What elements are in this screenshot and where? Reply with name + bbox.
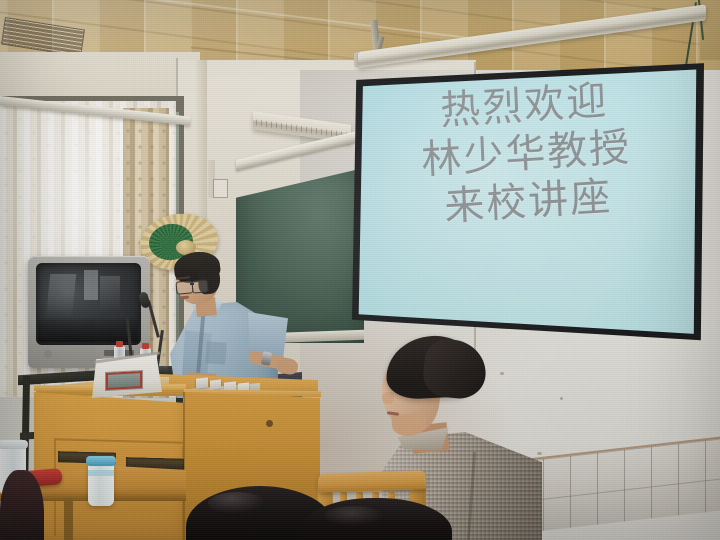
wall-speck <box>560 397 563 400</box>
wall-speck <box>537 452 542 455</box>
audience-hair-highlight <box>324 506 384 526</box>
cup-lid[interactable] <box>86 456 116 466</box>
bottle-cap <box>142 343 149 349</box>
podium-switch[interactable] <box>196 377 208 388</box>
tv-screen-reflection <box>84 270 98 300</box>
plastic-cup[interactable] <box>88 462 114 506</box>
tv-screen-reflection-audience <box>38 318 138 342</box>
glasses-icon <box>191 279 208 293</box>
seated-guest-nose <box>382 392 394 404</box>
audience-hair-highlight <box>208 492 266 514</box>
podium-switch[interactable] <box>210 379 221 389</box>
wall-speck <box>500 372 504 375</box>
slide-line-1: 热烈欢迎 <box>439 79 609 134</box>
audience-head <box>0 470 44 540</box>
slide-line-3: 来校讲座 <box>443 175 613 230</box>
tv-screen-reflection <box>46 274 77 318</box>
light-switch-plate[interactable] <box>214 180 227 197</box>
tv-power-button[interactable] <box>44 350 52 358</box>
bottle-cap <box>116 341 123 347</box>
cup-band <box>88 470 114 476</box>
speaker-mouth <box>180 296 189 300</box>
glasses-bridge <box>190 283 194 285</box>
chair-top-rail <box>318 470 427 493</box>
speaker-shirt-pocket <box>205 341 226 364</box>
console-display <box>106 371 142 390</box>
podium-lock-knob[interactable] <box>266 420 273 427</box>
student-desk-leg <box>64 498 73 540</box>
slide-text: 热烈欢迎 林少华教授 来校讲座 <box>373 69 682 324</box>
photo-scene: 热烈欢迎 林少华教授 来校讲座 <box>0 0 720 540</box>
cup-lid[interactable] <box>0 440 28 449</box>
tv-screen-reflection <box>100 276 120 312</box>
